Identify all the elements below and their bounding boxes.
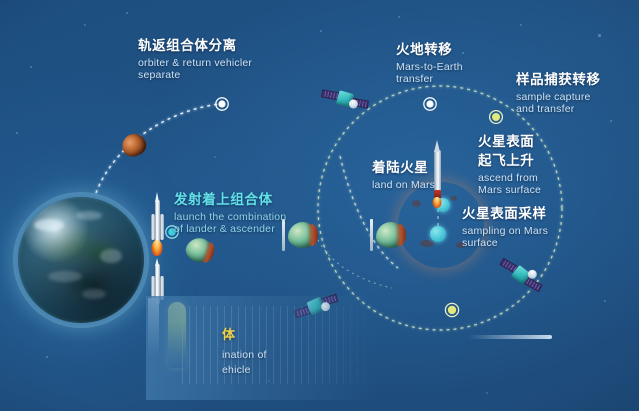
label-en-line1: orbiter & return vehicler [138, 57, 252, 69]
label-cn: 样品捕获转移 [516, 72, 601, 88]
label-cn: 轨返组合体分离 [138, 38, 252, 54]
mars-mission-infographic: 体 ination of ehicle 轨返组合体分离 orbiter & re… [0, 0, 639, 411]
label-cn: 火星表面采样 [462, 206, 548, 222]
label-en-line1: ination of [222, 348, 267, 364]
label-en-line2: transfer [396, 73, 463, 85]
label-orbiter-return-separate: 轨返组合体分离 orbiter & return vehicler separa… [138, 38, 252, 82]
label-en-line2: and transfer [516, 103, 601, 115]
label-en-line1: Mars-to-Earth [396, 61, 463, 73]
node-separation [216, 98, 228, 110]
label-launch-orbiter-return-combination: 体 ination of ehicle [222, 325, 267, 379]
label-en-line1: launch the combination [174, 211, 286, 223]
label-ascend-from-mars-surface: 火星表面 起飞上升 ascend from Mars surface [478, 134, 541, 197]
label-sampling-on-mars-surface: 火星表面采样 sampling on Mars surface [462, 206, 548, 250]
label-en-line1: ascend from [478, 172, 541, 184]
label-en-line2: surface [462, 237, 548, 249]
label-en-line1: sample capture [516, 91, 601, 103]
label-cn: 体 [222, 325, 267, 345]
label-launch-lander-ascender: 发射着上组合体 launch the combination of lander… [174, 192, 286, 236]
label-mars-to-earth-transfer: 火地转移 Mars-to-Earth transfer [396, 42, 463, 86]
label-en-line2: Mars surface [478, 184, 541, 196]
node-sample-capture [490, 111, 503, 124]
node-bottom-orbit [445, 303, 458, 316]
label-en-line2: ehicle [222, 363, 267, 379]
node-mars-to-earth [424, 98, 436, 110]
label-en-line1: land on Mars [372, 179, 435, 191]
label-sample-capture-transfer: 样品捕获转移 sample capture and transfer [516, 72, 601, 116]
label-en-line1: sampling on Mars [462, 225, 548, 237]
exhaust-streak [468, 335, 552, 339]
label-en-line2: separate [138, 69, 252, 81]
label-cn: 发射着上组合体 [174, 192, 286, 208]
label-land-on-mars: 着陆火星 land on Mars [372, 160, 435, 191]
label-cn: 火地转移 [396, 42, 463, 58]
label-en-line2: of lander & ascender [174, 223, 286, 235]
label-cn: 着陆火星 [372, 160, 435, 176]
label-cn-line1: 火星表面 [478, 134, 541, 150]
label-cn-line2: 起飞上升 [478, 153, 541, 169]
